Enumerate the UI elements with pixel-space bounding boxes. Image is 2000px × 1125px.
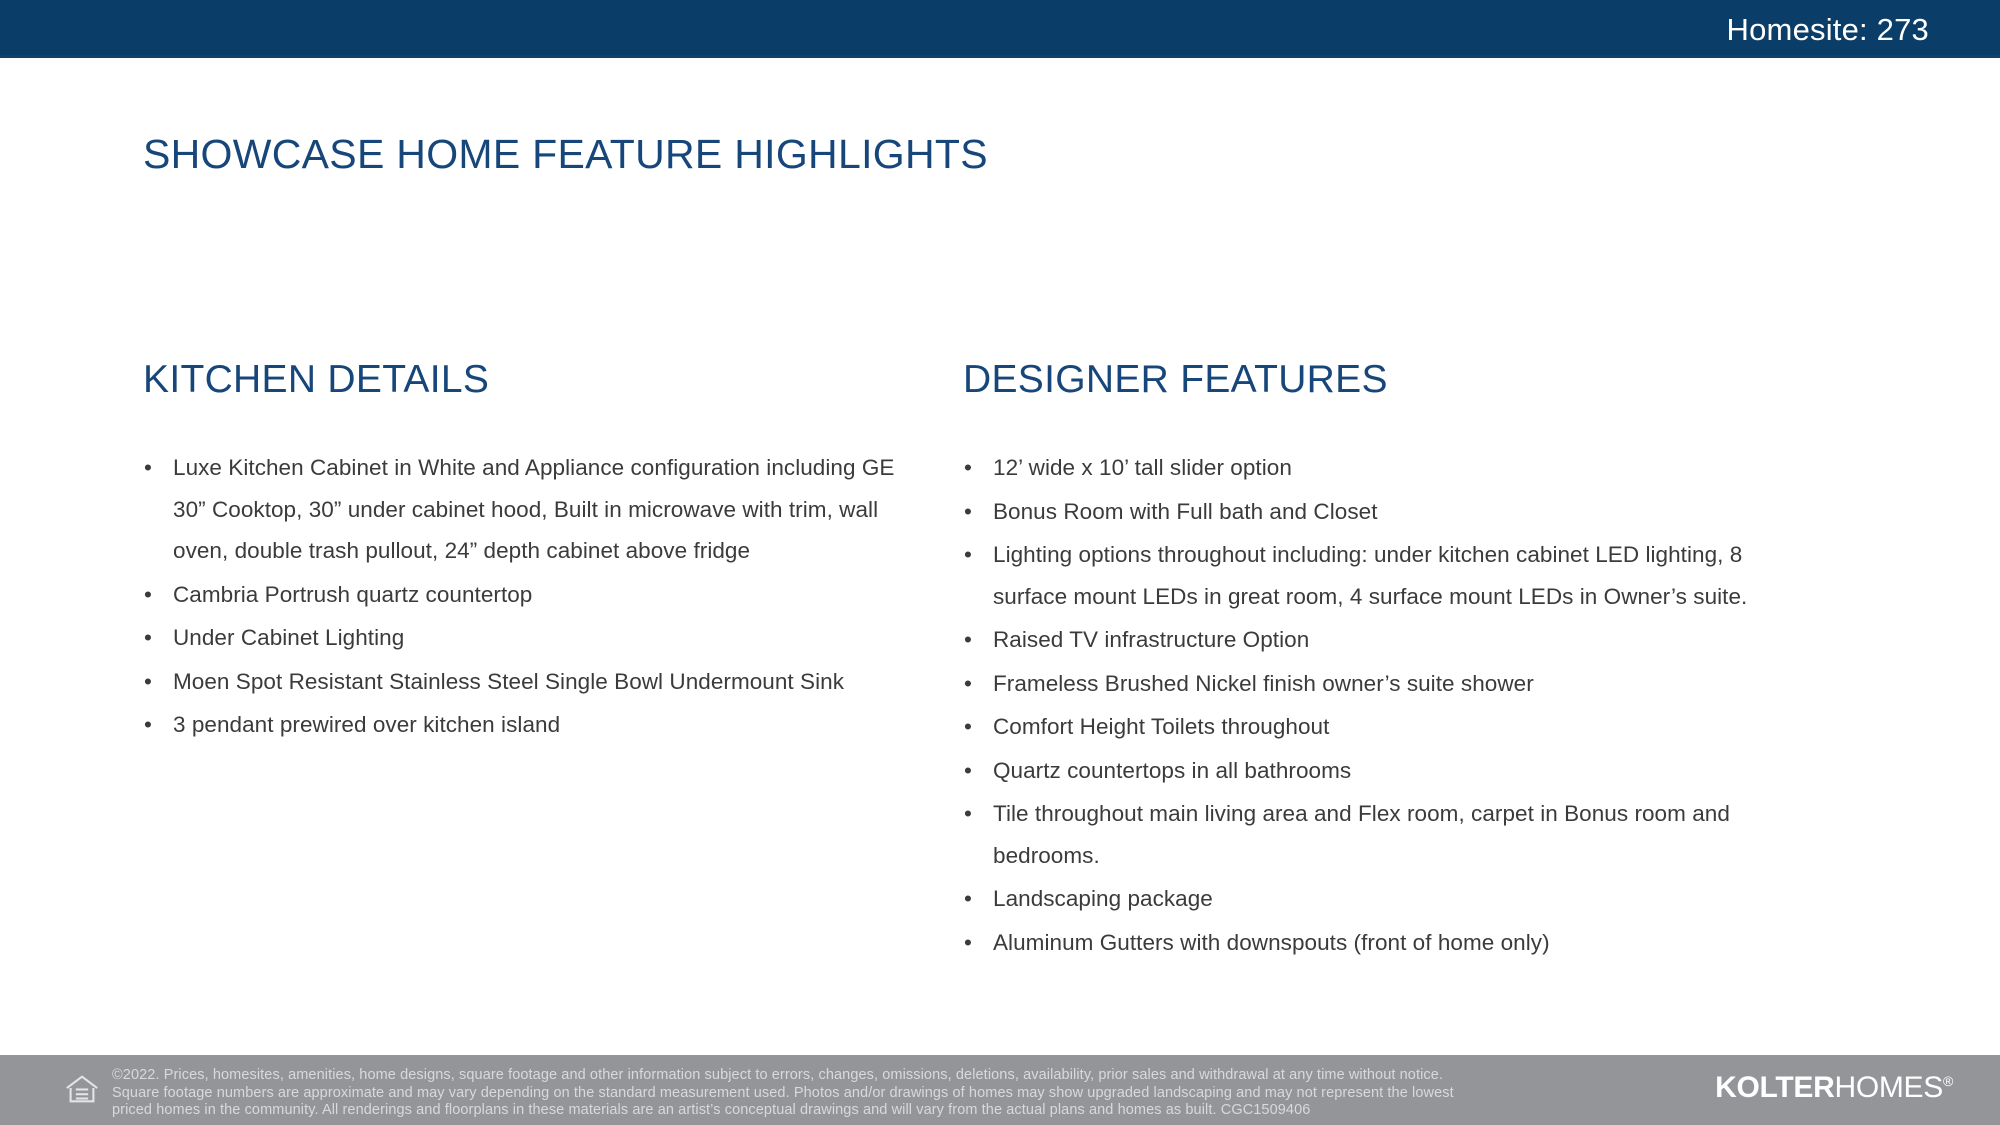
kitchen-details-column: KITCHEN DETAILS • Luxe Kitchen Cabinet i… [143, 358, 933, 748]
kitchen-details-heading: KITCHEN DETAILS [143, 358, 933, 402]
bullet-icon: • [964, 663, 972, 705]
list-item: • Raised TV infrastructure Option [963, 619, 1763, 661]
list-item: • Luxe Kitchen Cabinet in White and Appl… [143, 447, 933, 572]
list-item: • Under Cabinet Lighting [143, 617, 933, 659]
list-item: • Lighting options throughout including:… [963, 534, 1763, 617]
list-item-label: Raised TV infrastructure Option [993, 627, 1309, 652]
list-item-label: Under Cabinet Lighting [173, 625, 404, 650]
list-item-label: Comfort Height Toilets throughout [993, 714, 1329, 739]
list-item-label: Landscaping package [993, 886, 1213, 911]
homesite-label: Homesite: 273 [1727, 14, 1929, 45]
list-item-label: Bonus Room with Full bath and Closet [993, 499, 1378, 524]
feature-columns: KITCHEN DETAILS • Luxe Kitchen Cabinet i… [0, 58, 2000, 1055]
designer-features-list: • 12’ wide x 10’ tall slider option • Bo… [963, 447, 1763, 963]
equal-housing-opportunity-icon [63, 1070, 101, 1108]
list-item-label: Cambria Portrush quartz countertop [173, 582, 532, 607]
legal-disclaimer: ©2022. Prices, homesites, amenities, hom… [112, 1067, 1722, 1120]
slide-body: SHOWCASE HOME FEATURE HIGHLIGHTS KITCHEN… [0, 58, 2000, 1055]
list-item: • Quartz countertops in all bathrooms [963, 750, 1763, 792]
list-item-label: Quartz countertops in all bathrooms [993, 758, 1351, 783]
top-banner: Homesite: 273 [0, 0, 2000, 58]
legal-line-2: Square footage numbers are approximate a… [112, 1085, 1722, 1103]
bullet-icon: • [144, 617, 152, 659]
designer-features-heading: DESIGNER FEATURES [963, 358, 1763, 402]
bullet-icon: • [964, 750, 972, 792]
bullet-icon: • [964, 878, 972, 920]
list-item: • Moen Spot Resistant Stainless Steel Si… [143, 661, 933, 703]
bullet-icon: • [964, 793, 972, 835]
bullet-icon: • [144, 661, 152, 703]
bullet-icon: • [964, 491, 972, 533]
bullet-icon: • [964, 534, 972, 576]
list-item: • 3 pendant prewired over kitchen island [143, 704, 933, 746]
list-item: • Comfort Height Toilets throughout [963, 706, 1763, 748]
bullet-icon: • [964, 447, 972, 489]
list-item-label: Moen Spot Resistant Stainless Steel Sing… [173, 669, 844, 694]
list-item-label: Aluminum Gutters with downspouts (front … [993, 930, 1550, 955]
list-item-label: Luxe Kitchen Cabinet in White and Applia… [173, 455, 894, 563]
list-item-label: Frameless Brushed Nickel finish owner’s … [993, 671, 1534, 696]
list-item: • 12’ wide x 10’ tall slider option [963, 447, 1763, 489]
bullet-icon: • [964, 619, 972, 661]
bullet-icon: • [144, 447, 152, 489]
bullet-icon: • [144, 574, 152, 616]
bullet-icon: • [964, 922, 972, 964]
list-item: • Aluminum Gutters with downspouts (fron… [963, 922, 1763, 964]
logo-bold-part: KOLTER [1715, 1071, 1834, 1104]
designer-features-column: DESIGNER FEATURES • 12’ wide x 10’ tall … [963, 358, 1763, 965]
list-item-label: Tile throughout main living area and Fle… [993, 801, 1730, 868]
list-item-label: Lighting options throughout including: u… [993, 542, 1747, 609]
bullet-icon: • [144, 704, 152, 746]
list-item: • Tile throughout main living area and F… [963, 793, 1763, 876]
list-item: • Bonus Room with Full bath and Closet [963, 491, 1763, 533]
list-item: • Cambria Portrush quartz countertop [143, 574, 933, 616]
registered-trademark-icon: ® [1943, 1073, 1953, 1089]
list-item: • Frameless Brushed Nickel finish owner’… [963, 663, 1763, 705]
kolter-homes-logo: KOLTERHOMES® [1715, 1073, 1953, 1103]
list-item: • Landscaping package [963, 878, 1763, 920]
legal-line-1: ©2022. Prices, homesites, amenities, hom… [112, 1067, 1722, 1085]
bullet-icon: • [964, 706, 972, 748]
list-item-label: 12’ wide x 10’ tall slider option [993, 455, 1292, 480]
footer: ©2022. Prices, homesites, amenities, hom… [0, 1055, 2000, 1125]
logo-light-part: HOMES [1834, 1071, 1943, 1104]
kitchen-details-list: • Luxe Kitchen Cabinet in White and Appl… [143, 447, 933, 746]
list-item-label: 3 pendant prewired over kitchen island [173, 712, 560, 737]
legal-line-3: priced homes in the community. All rende… [112, 1102, 1722, 1120]
